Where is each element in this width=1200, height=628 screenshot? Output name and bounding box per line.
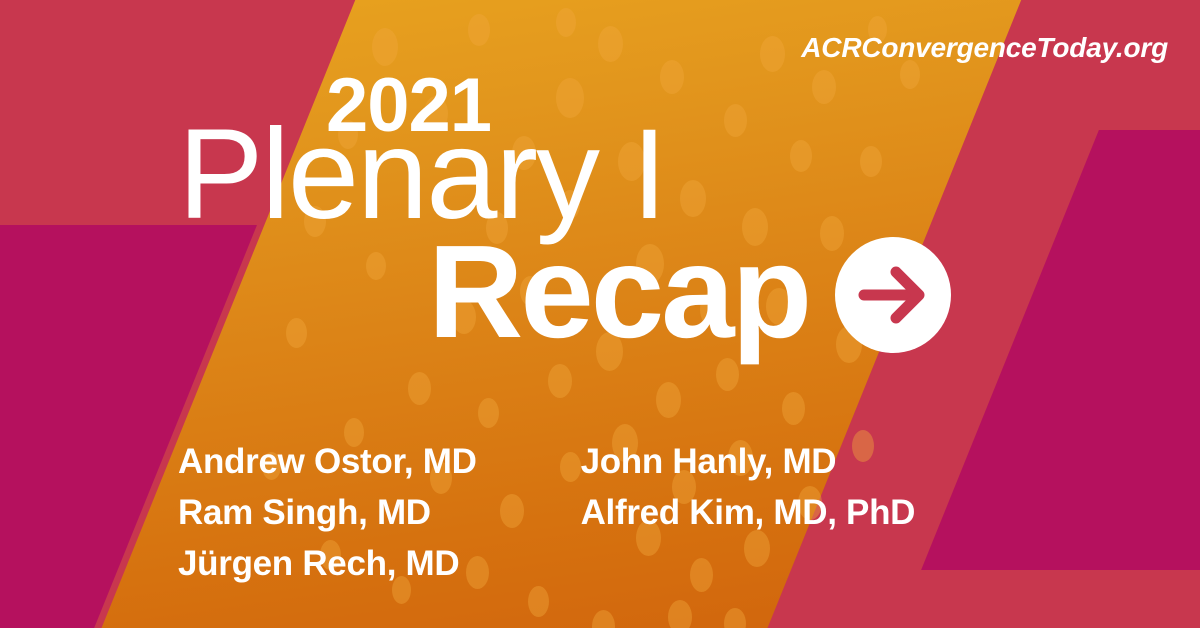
speaker-column-right: John Hanly, MD Alfred Kim, MD, PhD (581, 436, 916, 589)
speaker-list: Andrew Ostor, MD Ram Singh, MD Jürgen Re… (178, 436, 915, 589)
background-dot (468, 14, 490, 46)
speaker-name: Ram Singh, MD (178, 487, 477, 538)
speaker-name: Alfred Kim, MD, PhD (581, 487, 916, 538)
background-dot (782, 392, 805, 425)
background-dot (668, 600, 692, 628)
speaker-name: Jürgen Rech, MD (178, 538, 477, 589)
site-url[interactable]: ACRConvergenceToday.org (801, 32, 1168, 64)
background-dot (528, 586, 549, 617)
background-dot (408, 372, 431, 405)
arrow-right-icon[interactable] (835, 237, 951, 353)
background-dot (598, 26, 623, 62)
promo-graphic: ACRConvergenceToday.org 2021 Plenary I R… (0, 0, 1200, 628)
background-dot (592, 610, 615, 628)
background-dot (724, 608, 746, 628)
speaker-name: Andrew Ostor, MD (178, 436, 477, 487)
background-dot (478, 398, 499, 428)
background-dot (760, 36, 785, 72)
speaker-name: John Hanly, MD (581, 436, 916, 487)
background-dot (656, 382, 681, 418)
background-dot (548, 364, 572, 398)
background-dot (372, 28, 398, 66)
background-dot (556, 8, 576, 37)
speaker-column-left: Andrew Ostor, MD Ram Singh, MD Jürgen Re… (178, 436, 477, 589)
recap-title: Recap (428, 226, 809, 358)
session-title: Plenary I (178, 120, 951, 230)
recap-row: Recap (428, 226, 951, 358)
headline-block: 2021 Plenary I Recap (178, 68, 951, 358)
